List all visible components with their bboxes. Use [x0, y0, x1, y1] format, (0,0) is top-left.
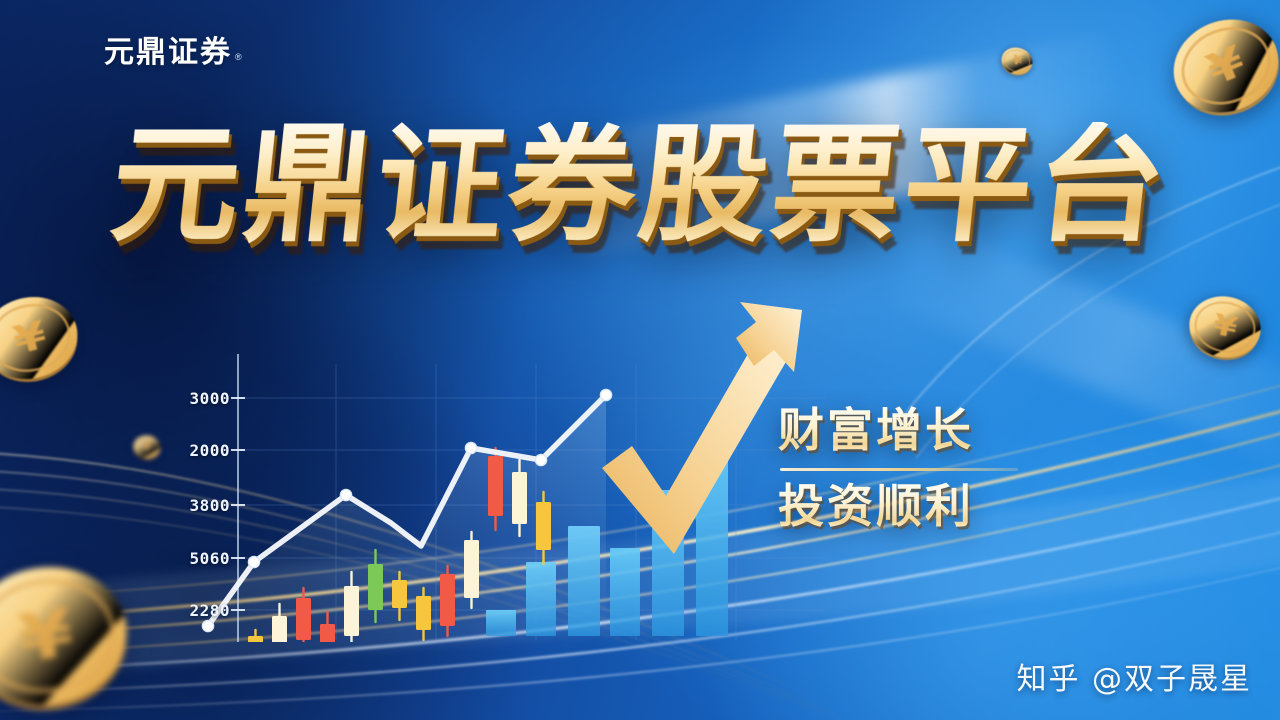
- y-axis-tick-label: 3800: [174, 496, 230, 515]
- brand-logo[interactable]: 元鼎证券 ®: [104, 38, 242, 68]
- y-axis-tick-label: 2280: [174, 601, 230, 620]
- svg-text:¥: ¥: [141, 440, 153, 454]
- slogan-divider: [780, 468, 1018, 471]
- hero-title-wrap: 元鼎证券股票平台: [0, 122, 1280, 250]
- slogan-line-1: 财富增长: [778, 406, 1046, 455]
- svg-text:¥: ¥: [9, 313, 51, 364]
- coin-small-left: ¥: [130, 430, 165, 465]
- registered-mark-icon: ®: [235, 52, 242, 62]
- slogan-line-2: 投资顺利: [778, 482, 1046, 531]
- svg-text:¥: ¥: [14, 595, 78, 677]
- coin-mid-left: ¥: [0, 275, 93, 401]
- watermark: 知乎 @双子晟星: [1016, 654, 1252, 698]
- coin-top-mid: ¥: [996, 40, 1039, 83]
- svg-text:¥: ¥: [1010, 52, 1025, 69]
- promo-banner: 元鼎证券 ® 元鼎证券股票平台 30002000380050602280 财富增…: [0, 0, 1280, 720]
- stock-chart: 30002000380050602280: [186, 352, 826, 642]
- svg-text:¥: ¥: [1210, 308, 1240, 345]
- y-axis-tick-label: 2000: [174, 441, 230, 460]
- chart-canvas: [186, 352, 826, 642]
- svg-text:¥: ¥: [1200, 36, 1252, 96]
- coin-bottom-left: ¥: [0, 537, 145, 720]
- slogan-block: 财富增长 投资顺利: [778, 406, 1046, 531]
- page-title: 元鼎证券股票平台: [105, 122, 1174, 250]
- coin-mid-right: ¥: [1179, 281, 1272, 374]
- y-axis-tick-label: 3000: [174, 389, 230, 408]
- brand-logo-text: 元鼎证券: [104, 38, 232, 68]
- y-axis-tick-label: 5060: [174, 549, 230, 568]
